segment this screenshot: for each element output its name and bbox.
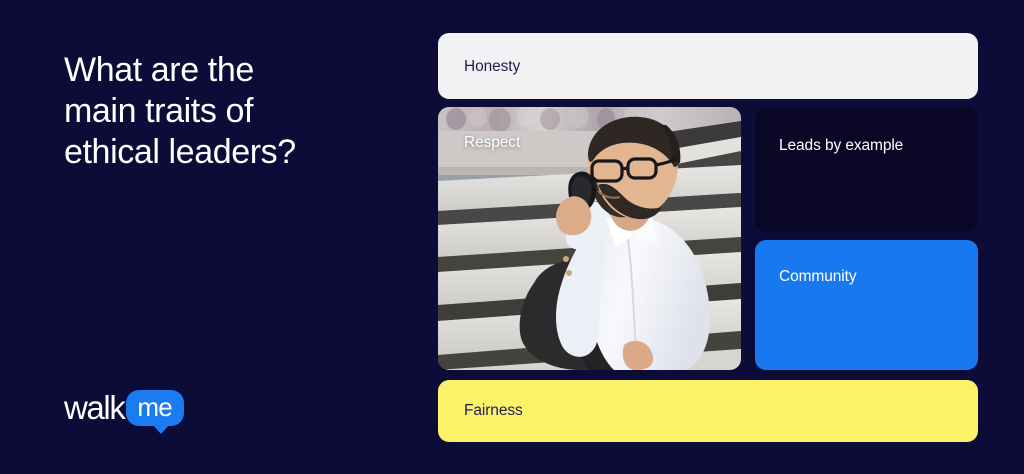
page-title: What are the main traits of ethical lead… [64,50,404,173]
trait-card-respect[interactable]: Respect [438,107,741,370]
trait-card-label: Leads by example [779,137,903,156]
trait-card-label: Respect [464,134,520,153]
trait-card-leads-by-example[interactable]: Leads by example [755,107,978,232]
traits-card-grid: Honesty [438,33,978,442]
trait-card-label: Community [779,268,856,287]
trait-card-label: Fairness [464,402,523,421]
trait-card-community[interactable]: Community [755,240,978,370]
trait-card-fairness[interactable]: Fairness [438,380,978,442]
walkme-logo[interactable]: walk me [64,388,184,428]
trait-card-label: Honesty [464,58,520,77]
left-panel: What are the main traits of ethical lead… [0,0,438,474]
speech-bubble-icon: me [126,390,184,425]
logo-wordmark: walk [64,391,124,424]
bubble-tail-icon [152,424,170,434]
banner-graphic: What are the main traits of ethical lead… [0,0,1024,474]
logo-bubble-label: me [137,393,172,421]
trait-card-honesty[interactable]: Honesty [438,33,978,99]
